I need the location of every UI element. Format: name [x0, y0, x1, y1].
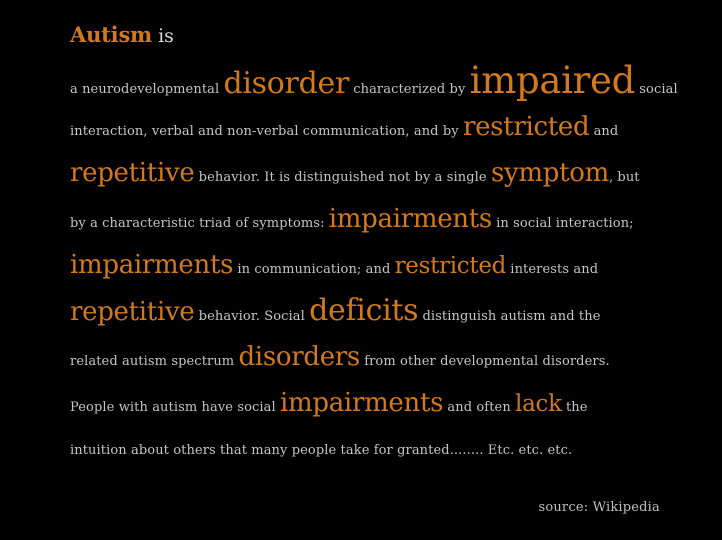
copy-line: intuition about others that many people …	[70, 426, 670, 472]
copy-line: interaction, verbal and non-verbal commu…	[70, 104, 670, 150]
body-text: behavior. Social	[194, 309, 309, 324]
highlight-word: restricted	[395, 253, 506, 279]
body-text: from other developmental disorders.	[360, 354, 610, 369]
body-text: , but	[609, 170, 640, 185]
highlight-word: impairments	[329, 204, 492, 234]
body-text: and	[589, 124, 618, 139]
body-text: behavior. It is distinguished not by a s…	[194, 170, 491, 185]
highlight-word: repetitive	[70, 158, 194, 188]
body-text: related autism spectrum	[70, 354, 238, 369]
body-text: social	[635, 82, 678, 97]
body-text: the	[562, 400, 588, 415]
copy-line: related autism spectrum disorders from o…	[70, 334, 670, 380]
copy-line: by a characteristic triad of symptoms: i…	[70, 196, 670, 242]
body-text: in social interaction;	[492, 216, 634, 231]
body-text: interaction, verbal and non-verbal commu…	[70, 124, 463, 139]
highlight-word: impaired	[470, 59, 635, 102]
highlight-word: lack	[515, 391, 562, 417]
highlight-word: symptom	[491, 158, 609, 188]
body-text: characterized by	[349, 82, 470, 97]
headline: Autismis	[70, 22, 174, 47]
body-copy: a neurodevelopmental disorder characteri…	[70, 58, 670, 472]
highlight-word: restricted	[463, 112, 589, 142]
highlight-word: deficits	[309, 293, 418, 328]
highlight-word: disorders	[238, 342, 360, 372]
highlight-word: disorder	[223, 66, 349, 101]
body-text: intuition about others that many people …	[70, 443, 572, 458]
highlight-word: repetitive	[70, 297, 194, 327]
body-text: distinguish autism and the	[418, 309, 600, 324]
copy-line: People with autism have social impairmen…	[70, 380, 670, 426]
body-text: in communication; and	[233, 262, 394, 277]
body-text: interests and	[506, 262, 598, 277]
slide-canvas: Autismis a neurodevelopmental disorder c…	[0, 0, 722, 540]
highlight-word: impairments	[280, 388, 443, 418]
body-text: and often	[443, 400, 515, 415]
source-credit: source: Wikipedia	[538, 500, 660, 515]
copy-line: impairments in communication; and restri…	[70, 242, 670, 288]
headline-verb: is	[158, 25, 174, 47]
body-text: by a characteristic triad of symptoms:	[70, 216, 329, 231]
headline-term: Autism	[70, 22, 152, 47]
highlight-word: impairments	[70, 250, 233, 280]
copy-line: repetitive behavior. It is distinguished…	[70, 150, 670, 196]
copy-line: a neurodevelopmental disorder characteri…	[70, 58, 670, 104]
body-text: a neurodevelopmental	[70, 82, 223, 97]
body-text: People with autism have social	[70, 400, 280, 415]
copy-line: repetitive behavior. Social deficits dis…	[70, 288, 670, 334]
